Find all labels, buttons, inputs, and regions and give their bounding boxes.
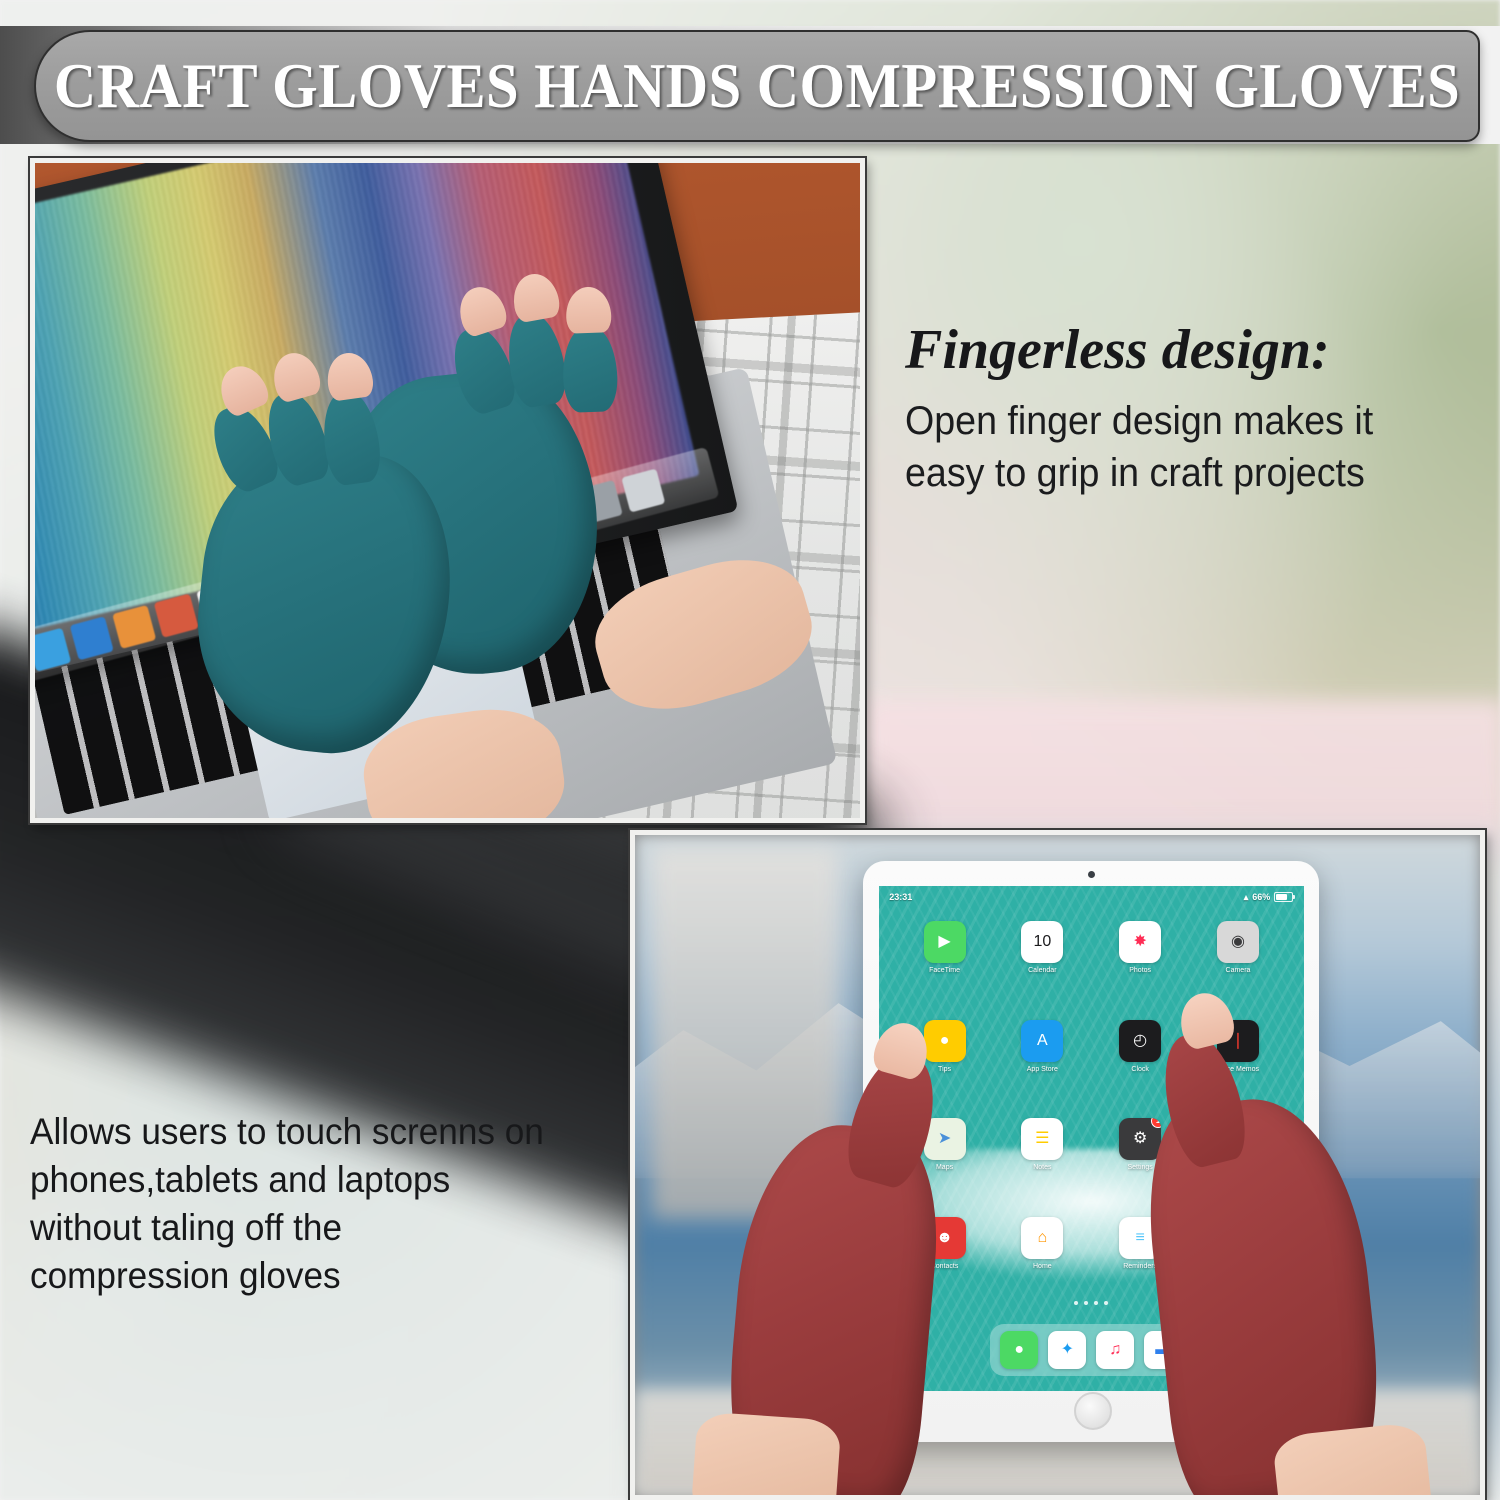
page-dot[interactable] bbox=[1084, 1301, 1088, 1305]
safari-icon[interactable] bbox=[70, 617, 114, 660]
app-label: Settings bbox=[1128, 1164, 1153, 1171]
app-app-store-icon[interactable]: AApp Store bbox=[993, 1020, 1091, 1119]
app-facetime-icon[interactable]: ▶FaceTime bbox=[896, 921, 994, 1020]
app-photos-icon[interactable]: ✸Photos bbox=[1091, 921, 1189, 1020]
feature-text-fingerless: Fingerless design: Open finger design ma… bbox=[905, 320, 1480, 499]
settings-icon[interactable]: ⚙1 bbox=[1119, 1118, 1161, 1160]
app-label: Home bbox=[1033, 1263, 1052, 1270]
camera-icon[interactable]: ◉ bbox=[1217, 921, 1259, 963]
feature-body-line-1: Open finger design makes it bbox=[905, 396, 1446, 447]
app-store-icon[interactable]: A bbox=[1021, 1020, 1063, 1062]
page-dot[interactable] bbox=[1104, 1301, 1108, 1305]
photo-ipad-red-gloves: 23:31 ▴ 66% ▶FaceTime10Calendar✸Photos◉C… bbox=[630, 830, 1485, 1500]
clock-icon[interactable]: ◴ bbox=[1119, 1020, 1161, 1062]
app-label: Camera bbox=[1226, 967, 1251, 974]
downloads-icon[interactable] bbox=[622, 469, 666, 512]
notification-badge: 1 bbox=[1151, 1118, 1161, 1128]
ios-status-bar: 23:31 ▴ 66% bbox=[879, 886, 1304, 909]
page-indicator-dots[interactable] bbox=[1074, 1301, 1108, 1305]
app-label: Photos bbox=[1129, 967, 1151, 974]
feature-heading: Fingerless design: bbox=[905, 320, 1480, 380]
app-label: Clock bbox=[1131, 1066, 1149, 1073]
photos-icon[interactable]: ✸ bbox=[1119, 921, 1161, 963]
app-label: Reminders bbox=[1123, 1263, 1157, 1270]
touch-body-line-3: without taling off the bbox=[30, 1204, 600, 1252]
contacts-icon[interactable] bbox=[155, 594, 199, 637]
product-infographic: CRAFT GLOVES HANDS COMPRESSION GLOVES bbox=[0, 0, 1500, 1500]
touch-body-line-1: Allows users to touch screnns on bbox=[30, 1108, 600, 1156]
app-calendar-icon[interactable]: 10Calendar bbox=[993, 921, 1091, 1020]
front-camera-icon bbox=[1088, 871, 1095, 878]
app-label: FaceTime bbox=[929, 967, 960, 974]
facetime-icon[interactable]: ▶ bbox=[924, 921, 966, 963]
touch-body-line-2: phones,tablets and laptops bbox=[30, 1156, 600, 1204]
forearm-left bbox=[691, 1411, 842, 1500]
messages-icon[interactable]: ● bbox=[1000, 1331, 1038, 1369]
wifi-icon: ▴ bbox=[1244, 892, 1249, 903]
battery-icon bbox=[1274, 892, 1293, 902]
app-label: App Store bbox=[1027, 1066, 1058, 1073]
calendar-icon[interactable]: 10 bbox=[1021, 921, 1063, 963]
home-app-icon[interactable]: ⌂ bbox=[1021, 1217, 1063, 1259]
photo-laptop-teal-gloves bbox=[30, 158, 865, 823]
music-icon[interactable]: ♫ bbox=[1096, 1331, 1134, 1369]
touch-body-line-4: compression gloves bbox=[30, 1252, 600, 1300]
safari-icon[interactable]: ✦ bbox=[1048, 1331, 1086, 1369]
app-notes-icon[interactable]: ☰Notes bbox=[993, 1118, 1091, 1217]
page-title: CRAFT GLOVES HANDS COMPRESSION GLOVES bbox=[54, 50, 1460, 123]
app-label: Notes bbox=[1033, 1164, 1051, 1171]
page-dot[interactable] bbox=[1074, 1301, 1078, 1305]
status-time: 23:31 bbox=[889, 892, 912, 902]
app-label: Calendar bbox=[1028, 967, 1056, 974]
app-label: Maps bbox=[936, 1164, 953, 1171]
home-button[interactable] bbox=[1074, 1392, 1112, 1430]
title-banner: CRAFT GLOVES HANDS COMPRESSION GLOVES bbox=[34, 30, 1480, 142]
notes-icon[interactable]: ☰ bbox=[1021, 1118, 1063, 1160]
finder-icon[interactable] bbox=[30, 628, 71, 671]
app-label: Tips bbox=[938, 1066, 951, 1073]
mail-icon[interactable] bbox=[112, 605, 156, 648]
page-dot[interactable] bbox=[1094, 1301, 1098, 1305]
battery-percent-label: 66% bbox=[1252, 892, 1270, 902]
tips-icon[interactable]: ● bbox=[924, 1020, 966, 1062]
feature-body-line-2: easy to grip in craft projects bbox=[905, 448, 1446, 499]
feature-text-touchscreen: Allows users to touch screnns on phones,… bbox=[30, 1108, 600, 1300]
